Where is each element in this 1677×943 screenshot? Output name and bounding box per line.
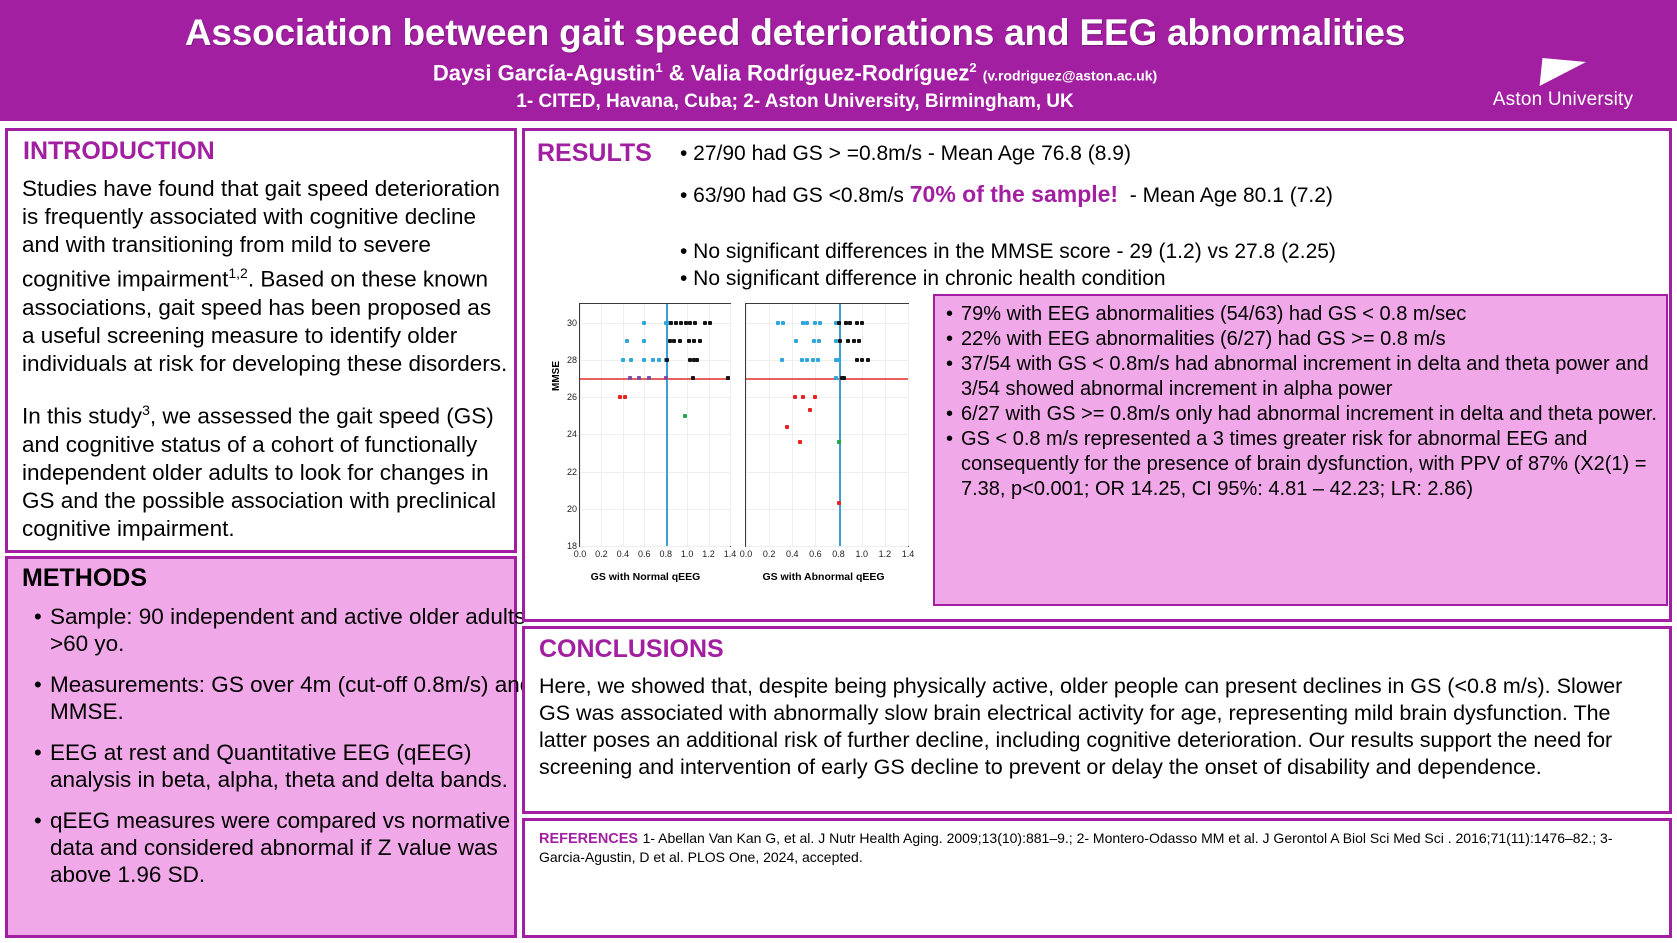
methods-title: METHODS (22, 564, 147, 593)
chart-y-tick-label: 30 (567, 318, 577, 328)
chart-data-point-red (808, 408, 812, 412)
chart-data-point-blue (651, 358, 655, 362)
chart-data-point-blue (812, 339, 816, 343)
intro-p2-a: In this study (22, 404, 142, 429)
chart-mmse-threshold-line (746, 378, 908, 380)
chart-data-point-black (688, 321, 692, 325)
author-two: & Valia Rodríguez-Rodríguez (663, 60, 970, 85)
affiliation-line: 1- CITED, Havana, Cuba; 2- Aston Univers… (90, 91, 1500, 113)
introduction-panel: INTRODUCTION Studies have found that gai… (5, 128, 517, 553)
chart-data-point-purple (664, 376, 668, 380)
chart-data-point-black (838, 339, 842, 343)
chart-data-point-blue (657, 358, 661, 362)
list-item: qEEG measures were compared vs normative… (36, 807, 536, 888)
chart-data-point-black (860, 321, 864, 325)
introduction-paragraph-2: In this study3, we assessed the gait spe… (22, 396, 508, 543)
list-item: Sample: 90 independent and active older … (36, 603, 536, 657)
chart-x-tick-label: 0.2 (763, 549, 776, 559)
results-line-3: • No significant differences in the MMSE… (680, 239, 1336, 265)
results-line-2: • 63/90 had GS <0.8m/s 70% of the sample… (680, 181, 1333, 209)
chart-gridline-horizontal (746, 360, 908, 361)
results-line-4: • No significant difference in chronic h… (680, 266, 1166, 292)
chart-data-point-black (669, 321, 673, 325)
chart-data-point-black (687, 339, 691, 343)
chart-data-point-blue (837, 358, 841, 362)
chart-data-point-green (837, 440, 841, 444)
chart-data-point-blue (811, 358, 815, 362)
chart-data-point-black (691, 376, 695, 380)
chart-data-point-black (837, 321, 841, 325)
chart-x-tick-label: 1.2 (702, 549, 715, 559)
chart-data-point-black (846, 339, 850, 343)
chart-data-point-red (801, 395, 805, 399)
page-title: Association between gait speed deteriora… (90, 12, 1500, 54)
chart-data-point-black (848, 321, 852, 325)
chart-gridline-horizontal (746, 509, 908, 510)
author-two-affil-marker: 2 (969, 60, 976, 75)
author-one: Daysi García-Agustin (433, 60, 656, 85)
chart-gridline-horizontal (580, 472, 730, 473)
chart-data-point-black (852, 339, 856, 343)
chart-data-point-blue (642, 358, 646, 362)
chart-data-point-black (679, 321, 683, 325)
chart-data-point-blue (813, 321, 817, 325)
chart-data-point-black (866, 358, 870, 362)
references-inner: REFERENCES 1- Abellan Van Kan G, et al. … (539, 829, 1659, 867)
chart-data-point-red (793, 395, 797, 399)
chart-data-point-blue (621, 358, 625, 362)
chart-x-tick-label: 1.0 (855, 549, 868, 559)
chart-data-point-black (708, 321, 712, 325)
chart-data-point-blue (642, 321, 646, 325)
chart-x-axis-label-right: GS with Abnormal qEEG (731, 571, 916, 583)
chart-data-point-black (844, 321, 848, 325)
author-one-affil-marker: 1 (655, 60, 662, 75)
chart-data-point-black (855, 358, 859, 362)
logo-label: Aston University (1463, 89, 1663, 111)
chart-data-point-blue (781, 321, 785, 325)
chart-data-point-black (698, 339, 702, 343)
results-line-2-b: - Mean Age 80.1 (7.2) (1130, 184, 1333, 207)
chart-mmse-threshold-line (580, 378, 730, 380)
chart-gridline-horizontal (580, 397, 730, 398)
chart-plot-area-left: 0.00.20.40.60.81.01.21.418202224262830 (579, 303, 731, 547)
chart-y-tick-label: 20 (567, 504, 577, 514)
references-text: 1- Abellan Van Kan G, et al. J Nutr Heal… (539, 830, 1612, 865)
chart-data-point-blue (805, 321, 809, 325)
chart-gridline-vertical (908, 304, 909, 546)
chart-data-point-red (618, 395, 622, 399)
chart-data-point-red (785, 425, 789, 429)
conclusions-panel: CONCLUSIONS Here, we showed that, despit… (522, 626, 1672, 814)
list-item: 37/54 with GS < 0.8m/s had abnormal incr… (945, 352, 1658, 402)
references-title: REFERENCES (539, 831, 638, 847)
chart-data-point-red (798, 440, 802, 444)
chart-x-tick-label: 0.4 (617, 549, 630, 559)
conclusions-text: Here, we showed that, despite being phys… (539, 673, 1657, 781)
chart-data-point-blue (629, 358, 633, 362)
chart-data-point-black (692, 339, 696, 343)
chart-data-point-black (726, 376, 730, 380)
chart-data-point-blue (794, 339, 798, 343)
chart-data-point-blue (780, 358, 784, 362)
list-item: 22% with EEG abnormalities (6/27) had GS… (945, 327, 1658, 352)
chart-data-point-red (837, 501, 841, 505)
chart-data-point-blue (817, 339, 821, 343)
chart-data-point-purple (647, 376, 651, 380)
chart-x-tick-label: 0.6 (638, 549, 651, 559)
chart-x-tick-label: 0.8 (832, 549, 845, 559)
poster-header: Association between gait speed deteriora… (0, 0, 1677, 124)
chart-gridline-horizontal (746, 397, 908, 398)
intro-p1-ref: 1,2 (228, 265, 247, 281)
chart-data-point-blue (642, 339, 646, 343)
chart-x-axis-label-left: GS with Normal qEEG (553, 571, 738, 583)
introduction-paragraph-1: Studies have found that gait speed deter… (22, 175, 508, 378)
methods-panel: METHODS Sample: 90 independent and activ… (5, 556, 517, 938)
references-panel: REFERENCES 1- Abellan Van Kan G, et al. … (522, 818, 1672, 938)
chart-data-point-black (678, 339, 682, 343)
chart-data-point-black (665, 358, 669, 362)
chart-x-tick-label: 1.4 (902, 549, 915, 559)
chart-data-point-blue (805, 358, 809, 362)
chart-data-point-blue (816, 358, 820, 362)
chart-data-point-black (855, 321, 859, 325)
chart-gridline-horizontal (746, 434, 908, 435)
chart-y-tick-label: 18 (567, 541, 577, 551)
chart-data-point-black (860, 358, 864, 362)
chart-abnormal-qeeg: 0.00.20.40.60.81.01.21.4 GS with Abnorma… (731, 299, 916, 604)
introduction-title: INTRODUCTION (23, 137, 215, 166)
chart-gridline-horizontal (580, 360, 730, 361)
chart-x-tick-label: 0.4 (786, 549, 799, 559)
chart-data-point-blue (625, 339, 629, 343)
list-item: EEG at rest and Quantitative EEG (qEEG) … (36, 739, 536, 793)
chart-data-point-black (672, 339, 676, 343)
author-line: Daysi García-Agustin1 & Valia Rodríguez-… (90, 60, 1500, 86)
chart-x-tick-label: 1.0 (681, 549, 694, 559)
chart-data-point-green (683, 414, 687, 418)
results-title: RESULTS (537, 139, 652, 168)
chart-data-point-black (695, 358, 699, 362)
chart-y-tick-label: 26 (567, 392, 577, 402)
results-highlight: 70% of the sample! (910, 181, 1118, 207)
chart-y-tick-label: 24 (567, 429, 577, 439)
findings-list: 79% with EEG abnormalities (54/63) had G… (935, 296, 1666, 502)
methods-list: Sample: 90 independent and active older … (14, 603, 536, 902)
conclusions-title: CONCLUSIONS (539, 635, 724, 664)
list-item: 79% with EEG abnormalities (54/63) had G… (945, 302, 1658, 327)
chart-data-point-blue (801, 321, 805, 325)
chart-data-point-black (693, 321, 697, 325)
chart-gridline-horizontal (580, 546, 730, 547)
chart-data-point-blue (818, 321, 822, 325)
chart-x-tick-label: 0.8 (659, 549, 672, 559)
list-item: 6/27 with GS >= 0.8m/s only had abnormal… (945, 402, 1658, 427)
chart-gridline-horizontal (580, 434, 730, 435)
chart-gridline-horizontal (746, 323, 908, 324)
chart-y-axis-label: MMSE (551, 361, 562, 391)
chart-x-tick-label: 0.0 (740, 549, 753, 559)
chart-data-point-red (813, 395, 817, 399)
poster-root: Association between gait speed deteriora… (0, 0, 1677, 943)
intro-p2-ref: 3 (142, 402, 150, 418)
chart-data-point-purple (637, 376, 641, 380)
chart-data-point-blue (776, 321, 780, 325)
chart-data-point-red (623, 395, 627, 399)
chart-gridline-horizontal (580, 509, 730, 510)
aston-triangle-icon (1540, 58, 1587, 86)
chart-gridline-horizontal (746, 546, 908, 547)
contact-email: (v.rodriguez@aston.ac.uk) (983, 67, 1157, 83)
chart-data-point-black (857, 339, 861, 343)
chart-x-tick-label: 0.6 (809, 549, 822, 559)
chart-x-tick-label: 1.2 (879, 549, 892, 559)
results-line-1: • 27/90 had GS > =0.8m/s - Mean Age 76.8… (680, 141, 1131, 167)
chart-data-point-blue (800, 358, 804, 362)
chart-y-tick-label: 28 (567, 355, 577, 365)
results-panel: RESULTS • 27/90 had GS > =0.8m/s - Mean … (522, 128, 1672, 622)
scatter-plot-figure: MMSE 0.00.20.40.60.81.01.21.418202224262… (535, 299, 925, 604)
chart-x-tick-label: 0.2 (595, 549, 608, 559)
chart-plot-area-right: 0.00.20.40.60.81.01.21.4 (745, 303, 909, 547)
chart-normal-qeeg: MMSE 0.00.20.40.60.81.01.21.418202224262… (553, 299, 738, 604)
chart-gridline-horizontal (746, 472, 908, 473)
list-item: Measurements: GS over 4m (cut-off 0.8m/s… (36, 671, 536, 725)
results-line-2-a: • 63/90 had GS <0.8m/s (680, 184, 904, 207)
findings-box: 79% with EEG abnormalities (54/63) had G… (933, 294, 1668, 606)
list-item: GS < 0.8 m/s represented a 3 times great… (945, 427, 1658, 502)
chart-y-tick-label: 22 (567, 467, 577, 477)
aston-university-logo: Aston University (1463, 58, 1663, 120)
chart-data-point-black (674, 321, 678, 325)
chart-data-point-black (703, 321, 707, 325)
